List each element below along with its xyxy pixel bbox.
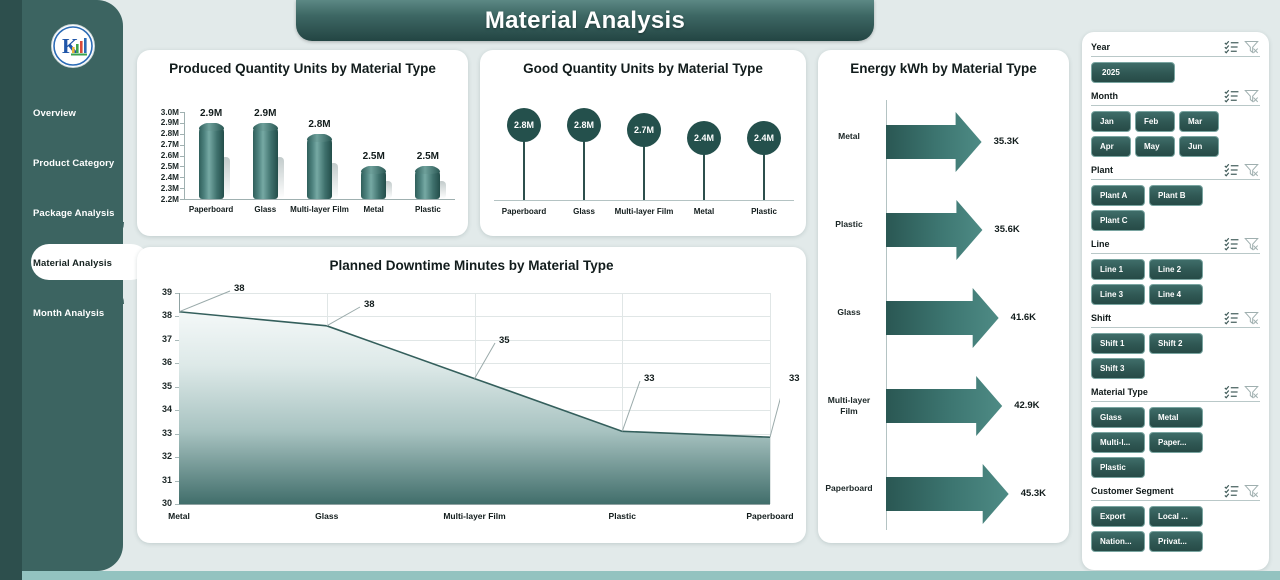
clear-filter-icon[interactable] [1243,89,1260,103]
bar-cylinder [307,134,332,199]
x-axis-category-label: Multi-layer Film [289,205,351,215]
arrow-value-label: 42.9K [1014,400,1039,411]
y-axis-tick-label: 2.5M [143,162,179,171]
y-axis-tick-label: 2.4M [143,173,179,182]
sidebar-item-label: Package Analysis [33,208,115,219]
lollipop-marker: 2.4M [747,121,781,155]
clear-filter-icon[interactable] [1243,237,1260,251]
filter-chip[interactable]: Paper... [1149,432,1203,453]
sidebar-item-label: Overview [33,108,76,119]
bar-cylinder [253,123,278,199]
arrow-value-label: 41.6K [1011,312,1036,323]
filter-chip[interactable]: May [1135,136,1175,157]
produced-quantity-chart-card: Produced Quantity Units by Material Type… [137,50,468,236]
arrow-value-label: 45.3K [1021,488,1046,499]
chart-title: Good Quantity Units by Material Type [480,50,806,76]
filter-chip[interactable]: Metal [1149,407,1203,428]
window-frame-left [0,0,22,580]
data-point-label: 33 [644,373,655,384]
gridline-vertical [770,293,771,504]
data-point-label: 38 [234,283,245,294]
arrow-category-label: Metal [818,131,880,142]
y-axis-tick-label: 36 [139,357,172,367]
y-axis-line [184,112,185,199]
page-title: Material Analysis [485,7,685,35]
bar-cylinder [199,123,224,199]
lollipop-marker: 2.4M [687,121,721,155]
x-axis-category-label: Glass [277,511,377,521]
filter-group-label: Year [1091,42,1222,52]
sidebar-item-material-analysis[interactable]: Material Analysis [22,238,123,288]
arrow-value-label: 35.3K [994,136,1019,147]
bar-cylinder [361,166,386,199]
filter-header: Shift [1091,311,1260,328]
filter-chip[interactable]: Nation... [1091,531,1145,552]
energy-arrow-bar [886,376,1004,436]
filter-group-material-type: Material TypeGlassMetalMulti-l...Paper..… [1091,385,1260,478]
y-axis-tick-label: 2.8M [143,129,179,138]
chart-title: Energy kWh by Material Type [818,50,1069,76]
filter-group-customer-segment: Customer SegmentExportLocal ...Nation...… [1091,484,1260,552]
select-all-icon[interactable] [1224,385,1241,399]
filter-header: Month [1091,89,1260,106]
filter-header: Material Type [1091,385,1260,402]
energy-arrow-bar [886,200,984,260]
y-axis-tick-label: 34 [139,404,172,414]
filter-chip[interactable]: Jan [1091,111,1131,132]
filter-chip-list: ExportLocal ...Nation...Privat... [1091,506,1260,552]
downtime-area-series [179,293,770,505]
x-axis-category-label: Metal [129,511,229,521]
x-axis-category-label: Multi-layer Film [613,207,675,217]
arrow-category-label: Glass [818,307,880,318]
select-all-icon[interactable] [1224,484,1241,498]
lollipop-marker: 2.7M [627,113,661,147]
filter-chip[interactable]: Export [1091,506,1145,527]
filter-chip[interactable]: Line 4 [1149,284,1203,305]
sidebar: K Overview Product Category Package Anal… [22,0,123,571]
select-all-icon[interactable] [1224,89,1241,103]
kpi-logo-icon: K [51,24,95,68]
filter-group-line: LineLine 1Line 2Line 3Line 4 [1091,237,1260,305]
produced-plot-area: 2.2M2.3M2.4M2.5M2.6M2.7M2.8M2.9M3.0M2.9M… [137,76,468,236]
energy-arrow-bar [886,112,984,172]
y-axis-tick-label: 2.2M [143,195,179,204]
filter-chip[interactable]: Local ... [1149,506,1203,527]
filter-chip-list: Shift 1Shift 2Shift 3 [1091,333,1260,379]
filter-chip[interactable]: Plastic [1091,457,1145,478]
clear-filter-icon[interactable] [1243,484,1260,498]
clear-filter-icon[interactable] [1243,163,1260,177]
filter-chip[interactable]: Shift 3 [1091,358,1145,379]
y-axis-tick-label: 33 [139,428,172,438]
filter-group-label: Month [1091,91,1222,101]
y-axis-tick-label: 31 [139,475,172,485]
y-axis-tick-label: 35 [139,381,172,391]
pill-notch-top [102,222,124,244]
x-axis-category-label: Metal [673,207,735,217]
x-axis-category-label: Paperboard [493,207,555,217]
filter-group-label: Customer Segment [1091,486,1222,496]
bar-value-label: 2.5M [348,151,400,162]
filter-chip[interactable]: 2025 [1091,62,1175,83]
good-quantity-chart-card: Good Quantity Units by Material Type 2.8… [480,50,806,236]
clear-filter-icon[interactable] [1243,40,1260,54]
y-axis-tick-label: 32 [139,451,172,461]
x-axis-category-label: Plastic [572,511,672,521]
chart-title: Planned Downtime Minutes by Material Typ… [137,247,806,273]
x-axis-line [184,199,455,200]
filter-chip[interactable]: Plant B [1149,185,1203,206]
x-axis-category-label: Plastic [733,207,795,217]
chart-title: Produced Quantity Units by Material Type [137,50,468,76]
filter-chip[interactable]: Shift 2 [1149,333,1203,354]
y-axis-tick-label: 2.6M [143,151,179,160]
window-frame-corner [0,571,22,580]
sidebar-item-month-analysis[interactable]: Month Analysis [22,288,123,338]
filter-group-label: Plant [1091,165,1222,175]
filter-chip[interactable]: Feb [1135,111,1175,132]
filter-group-label: Shift [1091,313,1222,323]
filter-header: Line [1091,237,1260,254]
data-point-label: 33 [789,373,800,384]
lollipop-marker: 2.8M [507,108,541,142]
filter-chip[interactable]: Glass [1091,407,1145,428]
sidebar-item-label: Month Analysis [33,308,104,319]
energy-plot-area: Metal35.3KPlastic35.6KGlass41.6KMulti-la… [818,78,1069,543]
filter-group-plant: PlantPlant APlant BPlant C [1091,163,1260,231]
arrow-value-label: 35.6K [994,224,1019,235]
clear-filter-icon[interactable] [1243,385,1260,399]
bar-cylinder [415,166,440,199]
clear-filter-icon[interactable] [1243,311,1260,325]
energy-chart-card: Energy kWh by Material Type Metal35.3KPl… [818,50,1069,543]
y-axis-tick-label: 2.7M [143,140,179,149]
x-axis-category-label: Plastic [397,205,459,215]
bar-value-label: 2.9M [239,108,291,119]
data-point-label: 38 [364,299,375,310]
filter-chip-list: Line 1Line 2Line 3Line 4 [1091,259,1260,305]
filter-group-label: Material Type [1091,387,1222,397]
select-all-icon[interactable] [1224,163,1241,177]
x-axis-line [494,200,794,201]
y-axis-tick-label: 30 [139,498,172,508]
filter-chip[interactable]: Multi-l... [1091,432,1145,453]
good-plot-area: 2.8MPaperboard2.8MGlass2.7MMulti-layer F… [480,76,806,236]
arrow-category-label: Plastic [818,219,880,230]
filter-group-year: Year2025 [1091,40,1260,83]
energy-arrow-bar [886,464,1011,524]
filter-header: Year [1091,40,1260,57]
filter-chip-list: JanFebMarAprMayJun [1091,111,1260,157]
page-title-banner: Material Analysis [296,0,874,41]
sidebar-nav: Overview Product Category Package Analys… [22,88,123,338]
filter-chip[interactable]: Plant A [1091,185,1145,206]
filter-header: Customer Segment [1091,484,1260,501]
y-axis-tick-label: 3.0M [143,108,179,117]
downtime-plot-area: 30313233343536373839MetalGlassMulti-laye… [137,273,806,543]
y-axis-tick-label: 37 [139,334,172,344]
select-all-icon[interactable] [1224,40,1241,54]
filter-chip[interactable]: Line 2 [1149,259,1203,280]
filter-chip[interactable]: Mar [1179,111,1219,132]
filter-chip[interactable]: Line 1 [1091,259,1145,280]
sidebar-item-overview[interactable]: Overview [22,88,123,138]
filter-chip-list: Plant APlant BPlant C [1091,185,1260,231]
sidebar-item-label: Material Analysis [33,258,112,269]
energy-arrow-bar [886,288,1001,348]
x-axis-category-label: Paperboard [720,511,820,521]
filter-group-month: MonthJanFebMarAprMayJun [1091,89,1260,157]
data-point-label: 35 [499,335,510,346]
select-all-icon[interactable] [1224,311,1241,325]
x-axis-category-label: Glass [553,207,615,217]
x-axis-category-label: Multi-layer Film [425,511,525,521]
filter-chip[interactable]: Jun [1179,136,1219,157]
window-frame-bottom [0,571,1280,580]
x-axis-category-label: Metal [343,205,405,215]
sidebar-item-product-category[interactable]: Product Category [22,138,123,188]
filter-chip-list: 2025 [1091,62,1260,83]
dashboard-root: K Overview Product Category Package Anal… [0,0,1280,580]
bar-value-label: 2.5M [402,151,454,162]
filter-chip[interactable]: Privat... [1149,531,1203,552]
select-all-icon[interactable] [1224,237,1241,251]
filter-chip[interactable]: Plant C [1091,210,1145,231]
bar-value-label: 2.8M [294,119,346,130]
filter-chip[interactable]: Apr [1091,136,1131,157]
sidebar-item-label: Product Category [33,158,114,169]
arrow-category-label: Paperboard [818,483,880,494]
filter-chip-list: GlassMetalMulti-l...Paper...Plastic [1091,407,1260,478]
y-axis-tick-label: 2.9M [143,118,179,127]
x-axis-category-label: Paperboard [180,205,242,215]
filter-panel: Year2025MonthJanFebMarAprMayJunPlantPlan… [1082,32,1269,570]
filter-group-shift: ShiftShift 1Shift 2Shift 3 [1091,311,1260,379]
filter-chip[interactable]: Shift 1 [1091,333,1145,354]
arrow-category-label: Multi-layer Film [818,395,880,417]
x-axis-category-label: Glass [234,205,296,215]
y-axis-tick-label: 39 [139,287,172,297]
filter-header: Plant [1091,163,1260,180]
bar-value-label: 2.9M [185,108,237,119]
y-axis-tick-label: 2.3M [143,184,179,193]
filter-chip[interactable]: Line 3 [1091,284,1145,305]
y-axis-tick-label: 38 [139,310,172,320]
lollipop-marker: 2.8M [567,108,601,142]
downtime-chart-card: Planned Downtime Minutes by Material Typ… [137,247,806,543]
filter-group-label: Line [1091,239,1222,249]
